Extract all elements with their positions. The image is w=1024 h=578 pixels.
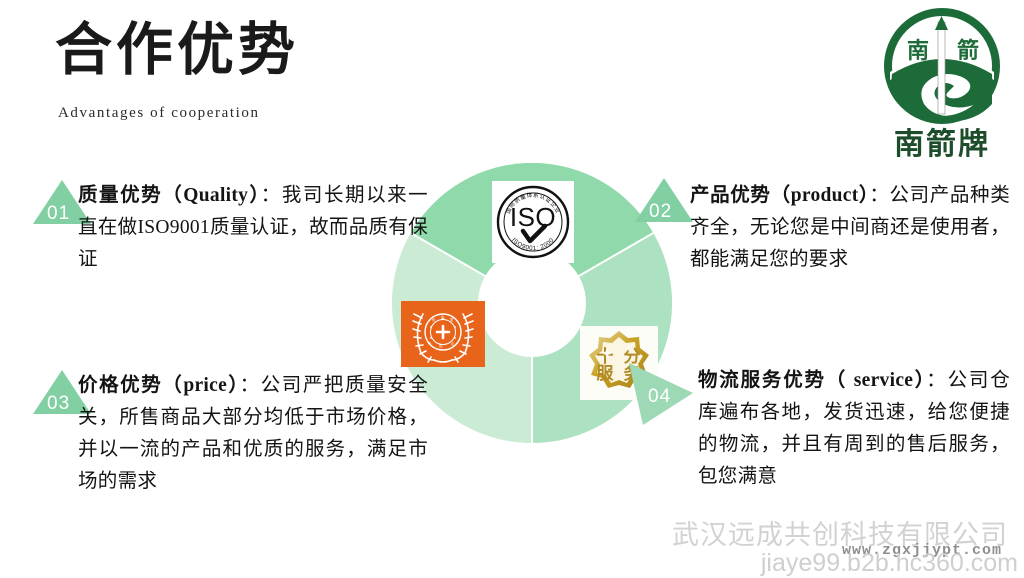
advantage-item-03: 价格优势（price）：公司严把质量安全关，所售商品大部分均低于市场价格，并以一… xyxy=(78,370,428,498)
advantage-item-03-heading: 价格优势（price） xyxy=(78,375,240,396)
page-title: 合作优势 xyxy=(55,18,299,84)
watermark-site-secondary: jiaye99.b2b.hc360.com xyxy=(761,549,1018,578)
advantage-item-01-heading: 质量优势（Quality） xyxy=(78,185,261,206)
page-subtitle: Advantages of cooperation xyxy=(58,105,260,122)
slide-root: 合作优势 Advantages of cooperation 南 箭 南箭牌 xyxy=(0,0,1024,576)
iso-main-text: ISO xyxy=(510,202,556,232)
company-logo: 南 箭 南箭牌 xyxy=(876,4,1008,162)
logo-char-left: 南 xyxy=(907,38,929,63)
advantage-item-01-separator: ： xyxy=(261,185,282,206)
watermark-site-main: www.zgxjjypt.com xyxy=(842,542,1002,559)
svg-text:服: 服 xyxy=(597,364,615,383)
advantage-item-01: 质量优势（Quality）：我司长期以来一直在做ISO9001质量认证，故而品质… xyxy=(78,180,428,276)
marker-01-number: 01 xyxy=(47,204,70,223)
marker-03-number: 03 xyxy=(47,394,70,413)
logo-wordmark: 南箭牌 xyxy=(876,130,1008,160)
logo-emblem-icon: 南 箭 xyxy=(876,4,1008,132)
svg-text:十: 十 xyxy=(597,346,614,366)
donut-center-hole xyxy=(478,249,586,357)
advantage-item-04-heading: 物流服务优势（ service） xyxy=(698,370,926,391)
advantage-item-04-separator: ： xyxy=(926,370,947,391)
advantage-item-03-separator: ： xyxy=(240,375,261,396)
advantage-item-04: 物流服务优势（ service）：公司仓库遍布各地，发货迅速，给您便捷的物流，并… xyxy=(698,365,1010,493)
marker-02-number: 02 xyxy=(649,202,672,221)
watermark-company: 武汉远成共创科技有限公司 xyxy=(672,513,1008,552)
advantage-item-02-heading: 产品优势（product） xyxy=(690,185,869,206)
logo-char-right: 箭 xyxy=(957,38,979,63)
advantage-item-02: 产品优势（product）：公司产品种类齐全，无论您是中间商还是使用者，都能满足… xyxy=(690,180,1010,276)
iso-certification-badge: 国际质量体系认证企业 ISO9001: 2000 ISO xyxy=(492,181,574,263)
laurel-wreath-emblem-badge: 优化质 中国企 xyxy=(401,301,485,367)
marker-04-number: 04 xyxy=(648,387,671,406)
marker-04: 04 xyxy=(629,363,693,430)
advantage-item-02-separator: ： xyxy=(869,185,889,206)
